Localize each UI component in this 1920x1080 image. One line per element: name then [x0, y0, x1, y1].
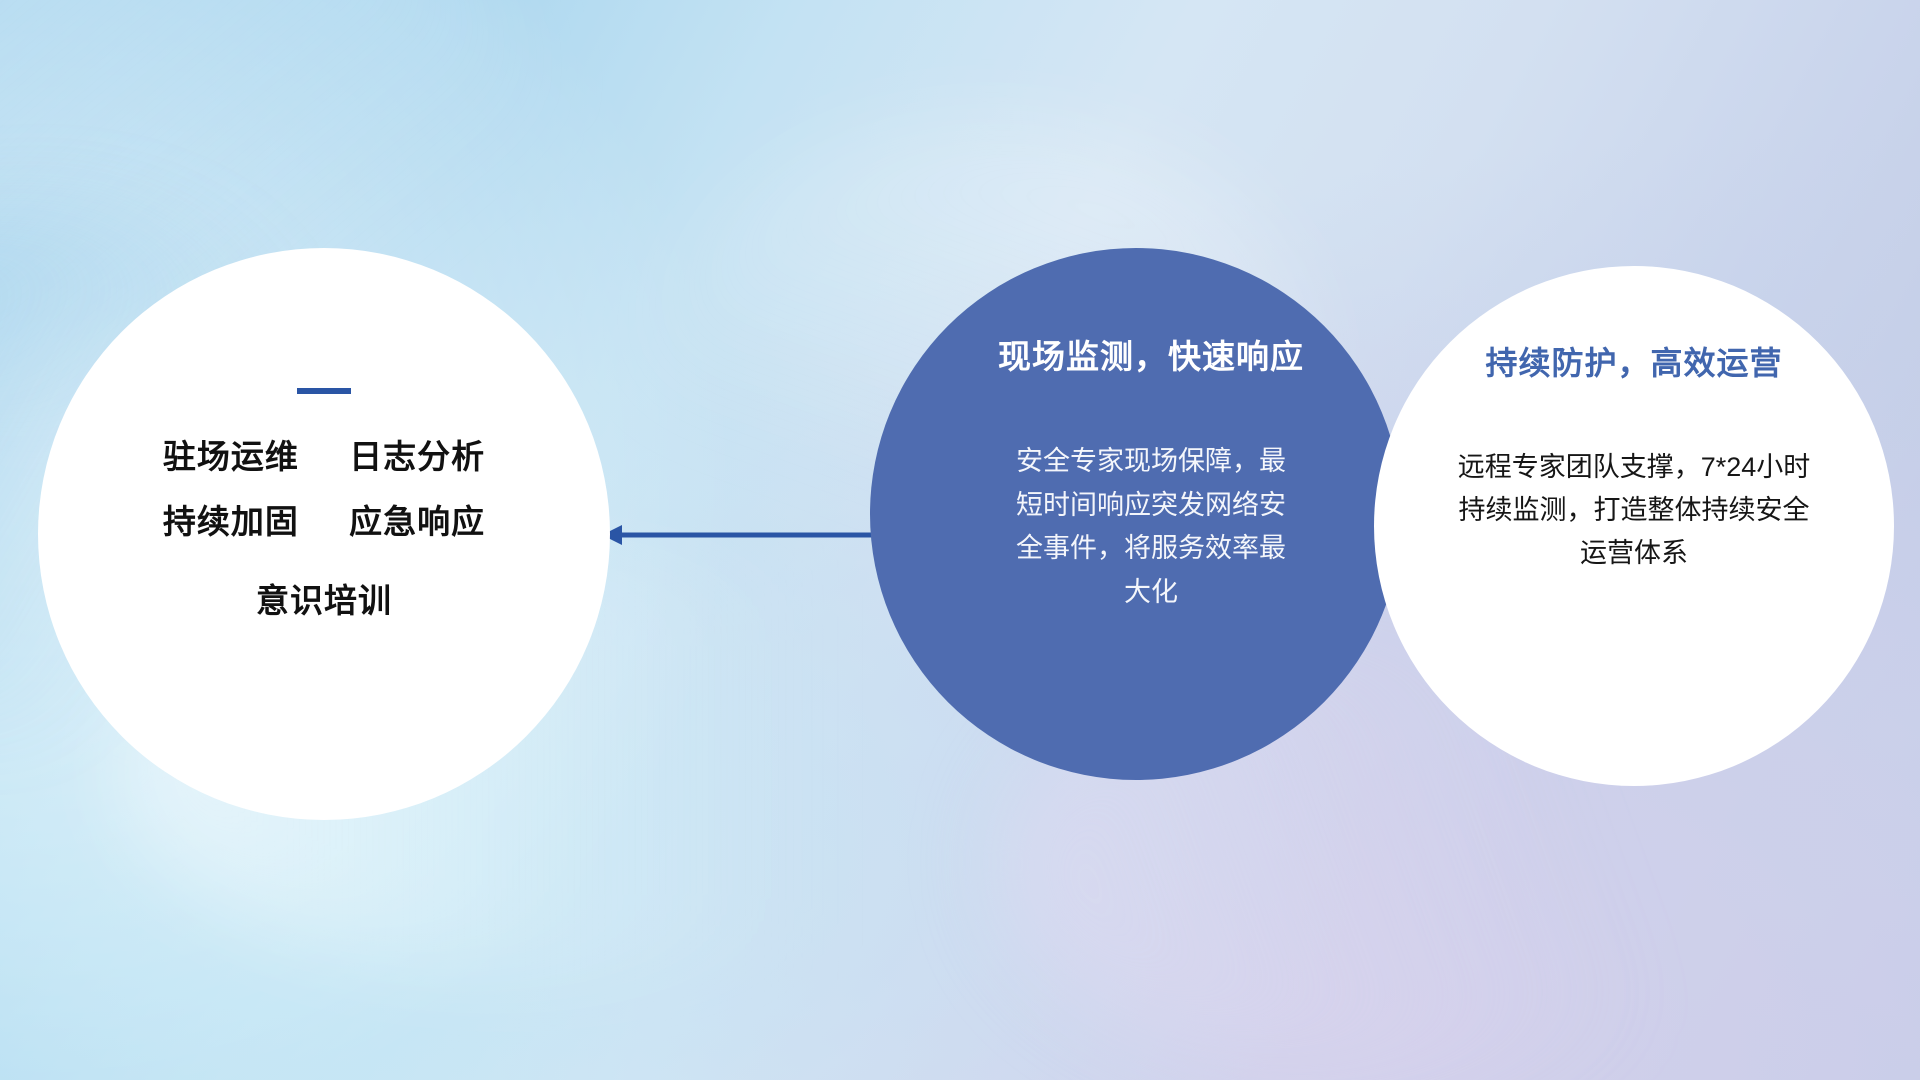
left-tag-3: 持续加固 [163, 503, 299, 540]
right-circle-content: 持续防护，高效运营 远程专家团队支撑，7*24小时持续监测，打造整体持续安全运营… [1374, 266, 1894, 786]
left-circle-content: 驻场运维 日志分析 持续加固 应急响应 意识培训 [38, 248, 610, 820]
left-circle-row-1: 驻场运维 日志分析 [163, 440, 485, 473]
left-tag-1: 驻场运维 [163, 438, 299, 475]
left-circle-row-3: 意识培训 [256, 584, 392, 617]
left-tag-2: 日志分析 [349, 438, 485, 475]
left-pointing-arrow-icon [600, 520, 890, 550]
middle-circle-content: 现场监测，快速响应 安全专家现场保障，最短时间响应突发网络安全事件，将服务效率最… [870, 248, 1402, 780]
right-circle-body: 远程专家团队支撑，7*24小时持续监测，打造整体持续安全运营体系 [1446, 446, 1822, 576]
middle-circle-body: 安全专家现场保障，最短时间响应突发网络安全事件，将服务效率最大化 [1006, 440, 1296, 615]
right-circle-title: 持续防护，高效运营 [1485, 338, 1782, 384]
accent-dash [297, 388, 351, 394]
left-tag-4: 应急响应 [349, 503, 485, 540]
infographic-canvas: 驻场运维 日志分析 持续加固 应急响应 意识培训 现场监测，快速响应 安全专家现… [0, 0, 1920, 1080]
middle-circle-title: 现场监测，快速响应 [998, 330, 1304, 378]
left-circle-row-2: 持续加固 应急响应 [163, 505, 485, 538]
